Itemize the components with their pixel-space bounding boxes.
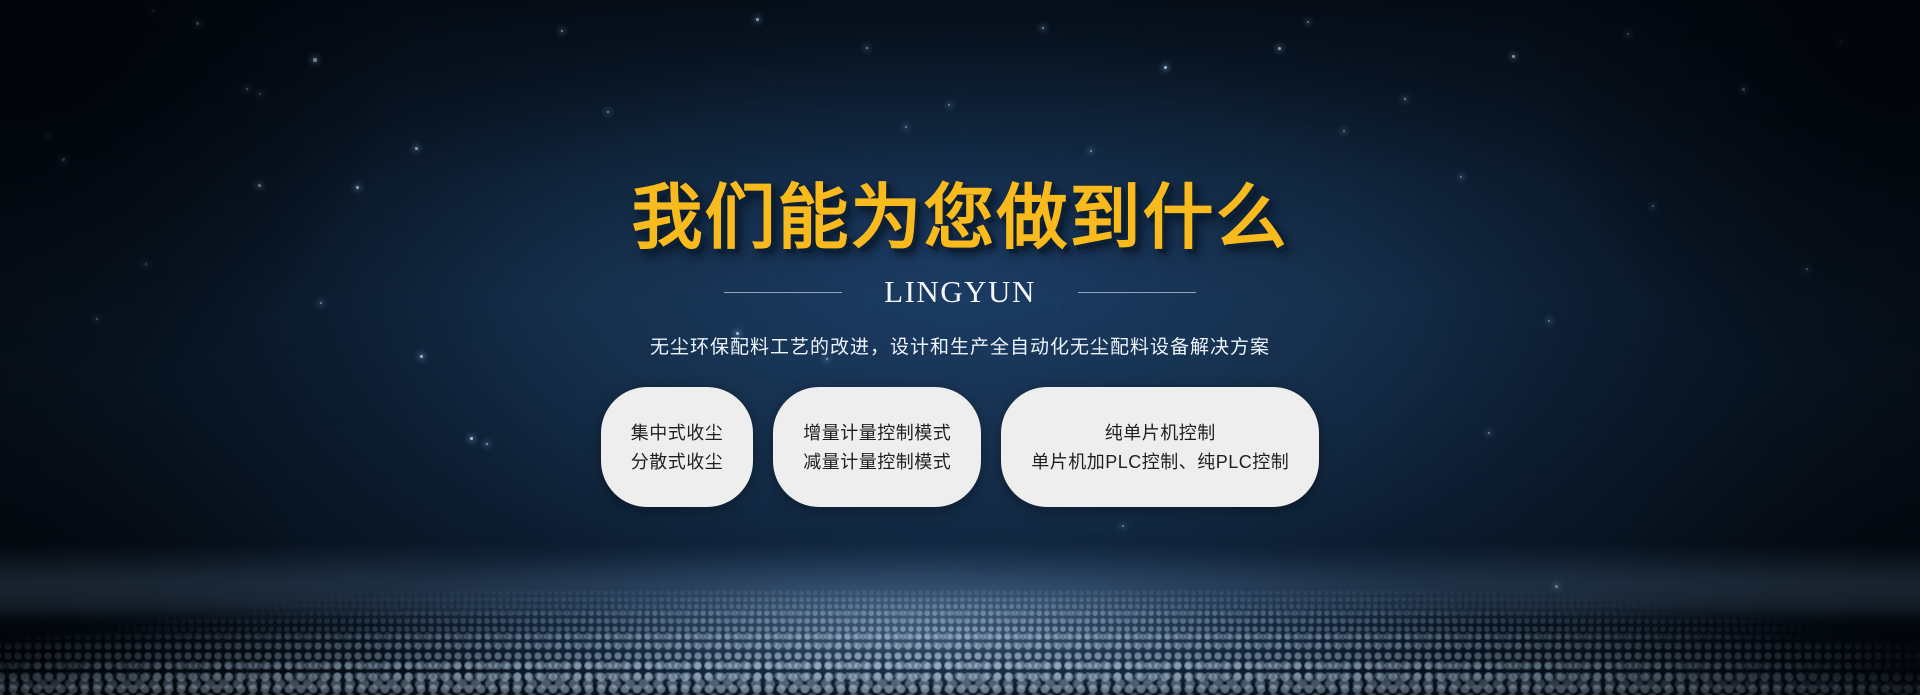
divider-line-right xyxy=(1078,292,1196,293)
subtitle-row: LINGYUN xyxy=(724,274,1196,310)
hero-banner: 我们能为您做到什么 LINGYUN 无尘环保配料工艺的改进，设计和生产全自动化无… xyxy=(0,0,1920,695)
feature-card[interactable]: 纯单片机控制 单片机加PLC控制、纯PLC控制 xyxy=(1001,387,1319,507)
divider-line-left xyxy=(724,292,842,293)
feature-card-line: 增量计量控制模式 xyxy=(803,424,951,442)
feature-card-line: 纯单片机控制 xyxy=(1105,424,1216,442)
banner-content: 我们能为您做到什么 LINGYUN 无尘环保配料工艺的改进，设计和生产全自动化无… xyxy=(0,0,1920,695)
banner-tagline: 无尘环保配料工艺的改进，设计和生产全自动化无尘配料设备解决方案 xyxy=(650,332,1270,359)
feature-card-line: 单片机加PLC控制、纯PLC控制 xyxy=(1031,453,1289,471)
feature-card-line: 分散式收尘 xyxy=(631,453,724,471)
feature-card-list: 集中式收尘 分散式收尘 增量计量控制模式 减量计量控制模式 纯单片机控制 单片机… xyxy=(601,387,1320,507)
feature-card[interactable]: 增量计量控制模式 减量计量控制模式 xyxy=(773,387,981,507)
feature-card-line: 减量计量控制模式 xyxy=(803,453,951,471)
feature-card-line: 集中式收尘 xyxy=(631,424,724,442)
feature-card[interactable]: 集中式收尘 分散式收尘 xyxy=(601,387,754,507)
banner-headline: 我们能为您做到什么 xyxy=(631,183,1288,254)
banner-subtitle-en: LINGYUN xyxy=(884,274,1036,310)
